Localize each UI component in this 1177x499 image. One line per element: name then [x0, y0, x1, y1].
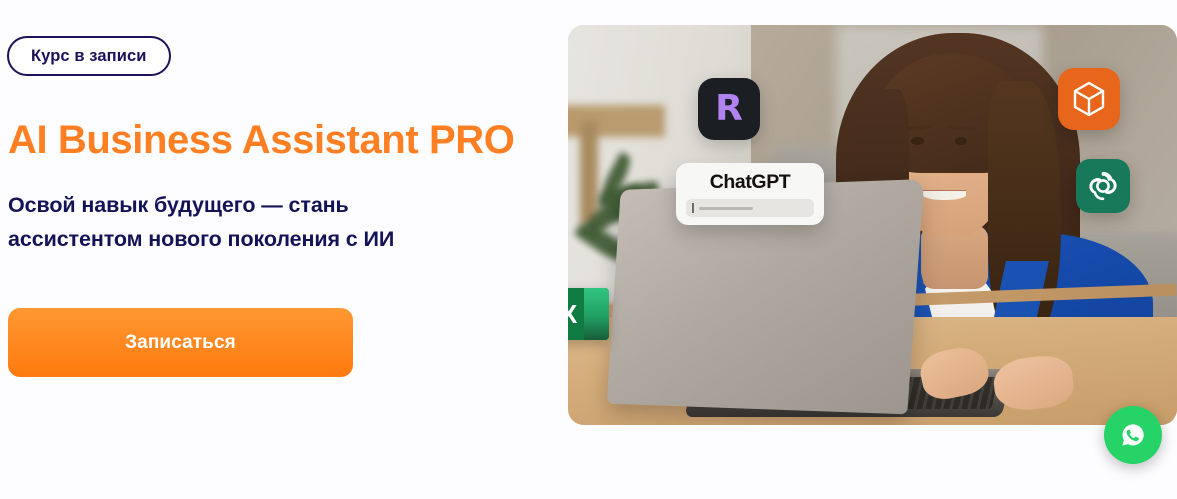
woman-eye-left — [911, 137, 923, 145]
openai-icon — [1076, 159, 1130, 213]
shelf-side — [580, 121, 598, 225]
chatgpt-card: ChatGPT — [676, 163, 824, 225]
chatgpt-prompt-placeholder-line — [699, 207, 753, 210]
chatgpt-card-title: ChatGPT — [686, 171, 814, 193]
woman-eye-right — [955, 137, 967, 145]
hero-subtitle: Освой навык будущего — стань ассистентом… — [8, 188, 508, 256]
hero-subtitle-line-2: ассистентом нового поколения с ИИ — [8, 222, 508, 256]
hero-subtitle-line-1: Освой навык будущего — стань — [8, 188, 508, 222]
chatgpt-prompt-input — [686, 199, 814, 217]
excel-icon: X — [568, 288, 609, 340]
page-title: AI Business Assistant PRO — [8, 116, 514, 164]
hero-section: Курс в записи AI Business Assistant PRO … — [0, 0, 1177, 499]
hero-image: R X — [568, 25, 1177, 425]
excel-icon-glyph: X — [568, 288, 584, 340]
course-format-badge-label: Курс в записи — [31, 47, 147, 66]
woman-smile — [923, 190, 966, 200]
whatsapp-icon — [1117, 419, 1149, 451]
course-format-badge: Курс в записи — [7, 36, 171, 76]
excel-icon-sheet — [584, 288, 609, 340]
whatsapp-chat-button[interactable] — [1104, 406, 1162, 464]
rork-icon-glyph: R — [715, 91, 743, 127]
enroll-button[interactable]: Записаться — [8, 308, 353, 377]
text-caret-icon — [692, 203, 694, 213]
hero-text-column: Курс в записи AI Business Assistant PRO … — [6, 0, 551, 499]
cube-icon — [1058, 68, 1120, 130]
rork-icon: R — [698, 78, 760, 140]
